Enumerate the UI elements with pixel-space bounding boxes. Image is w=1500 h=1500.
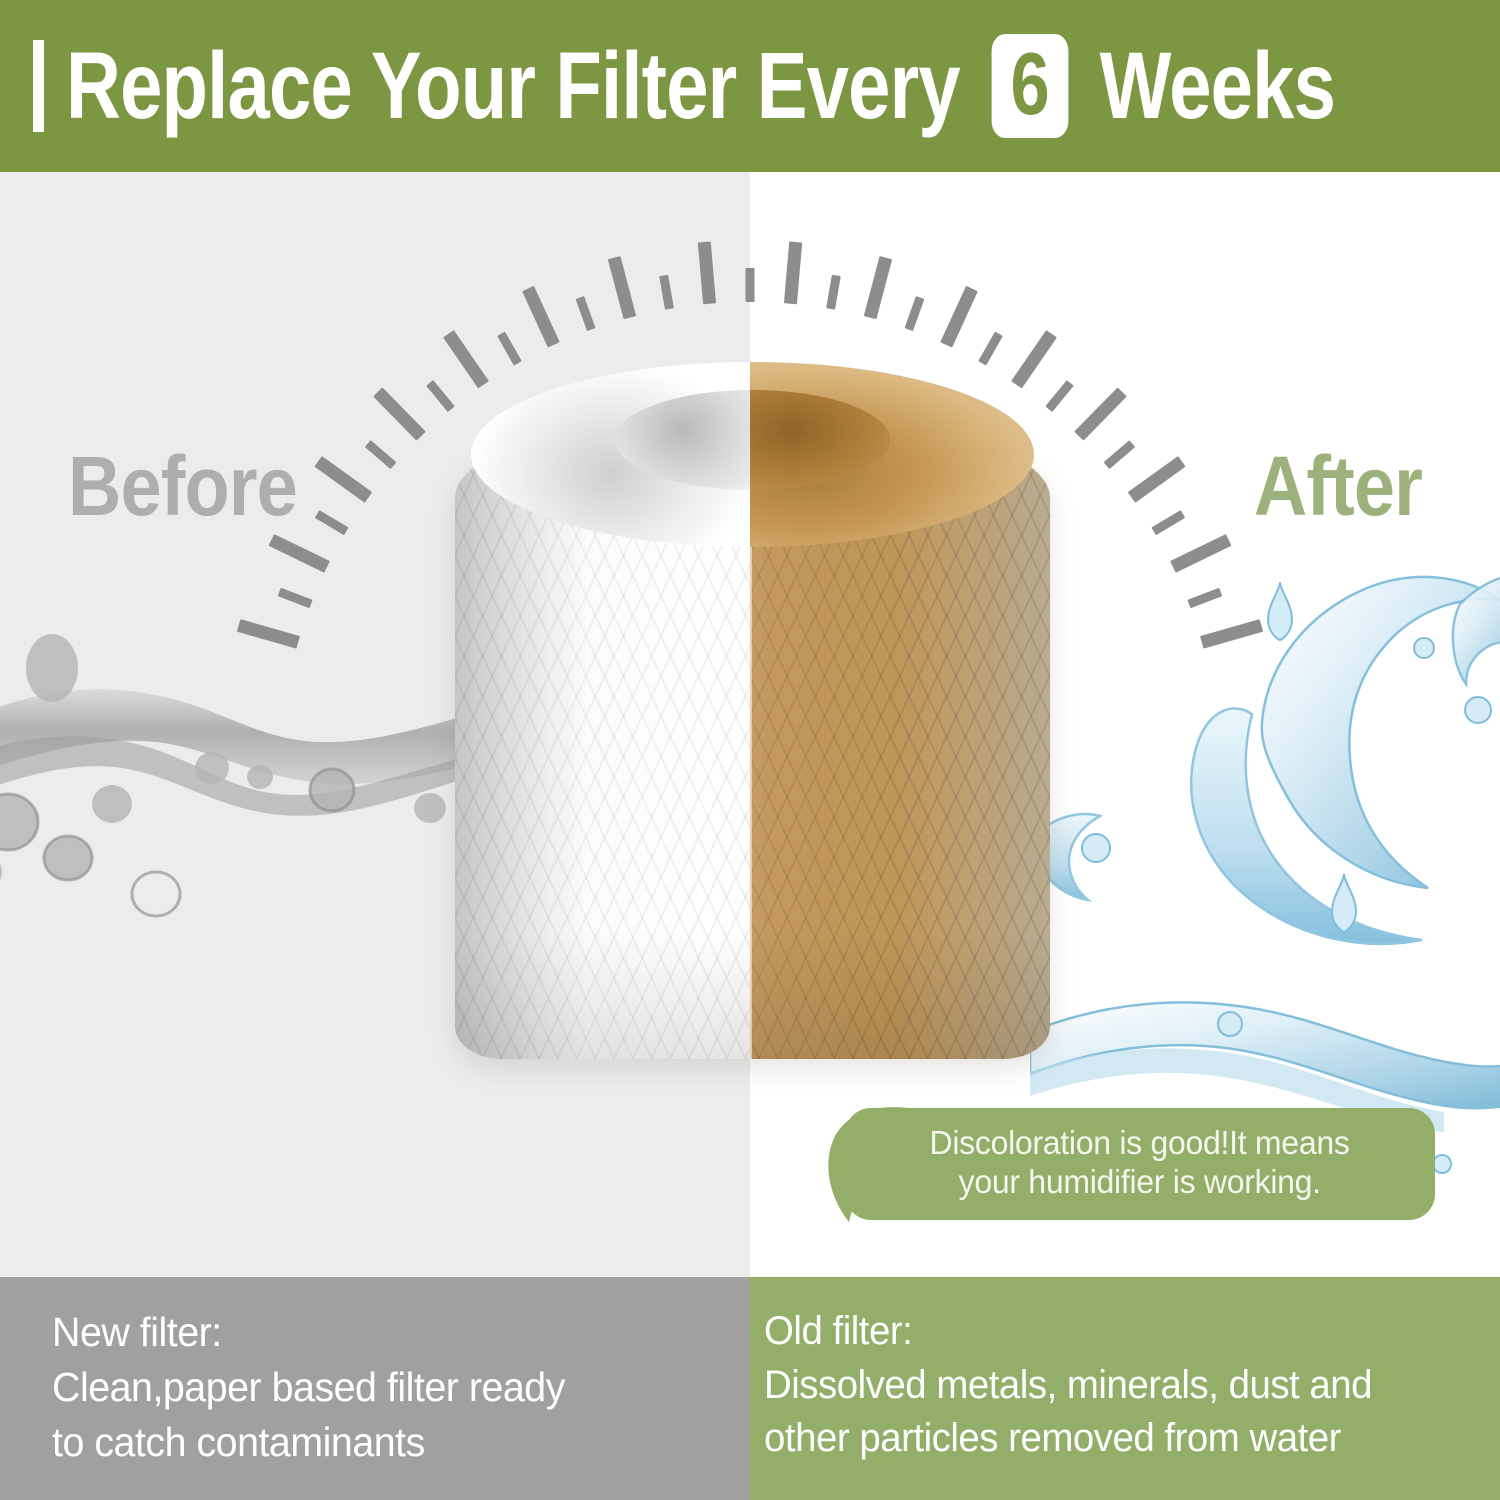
page-title: Replace Your Filter Every 6 Weeks (66, 34, 1335, 138)
after-label: After (1254, 444, 1422, 528)
new-filter-heading: New filter: (52, 1305, 693, 1360)
new-filter-line-2: to catch contaminants (52, 1415, 693, 1470)
new-filter-caption: New filter: Clean,paper based filter rea… (0, 1277, 750, 1500)
new-filter-line-1: Clean,paper based filter ready (52, 1360, 693, 1415)
callout-bubble: Discoloration is good!It means your humi… (845, 1108, 1435, 1220)
old-filter-line-1: Dissolved metals, minerals, dust and (764, 1359, 1442, 1413)
callout-line-1: Discoloration is good!It means (930, 1124, 1350, 1163)
old-filter-line-2: other particles removed from water (764, 1412, 1442, 1466)
header-accent-bar-icon (33, 40, 44, 132)
callout-line-2: your humidifier is working. (959, 1163, 1321, 1202)
infographic-page: Replace Your Filter Every 6 Weeks (0, 0, 1500, 1500)
header-banner: Replace Your Filter Every 6 Weeks (0, 0, 1500, 172)
humidifier-filter-image (455, 362, 1050, 1082)
weeks-count-badge: 6 (991, 34, 1068, 138)
tick-mark (746, 268, 755, 302)
filter-center-opening (615, 390, 890, 490)
old-filter-heading: Old filter: (764, 1305, 1442, 1359)
title-text-after-badge: Weeks (1079, 39, 1335, 134)
old-filter-caption: Old filter: Dissolved metals, minerals, … (750, 1277, 1500, 1500)
before-label: Before (68, 444, 297, 528)
title-text-before-badge: Replace Your Filter Every (66, 39, 980, 134)
